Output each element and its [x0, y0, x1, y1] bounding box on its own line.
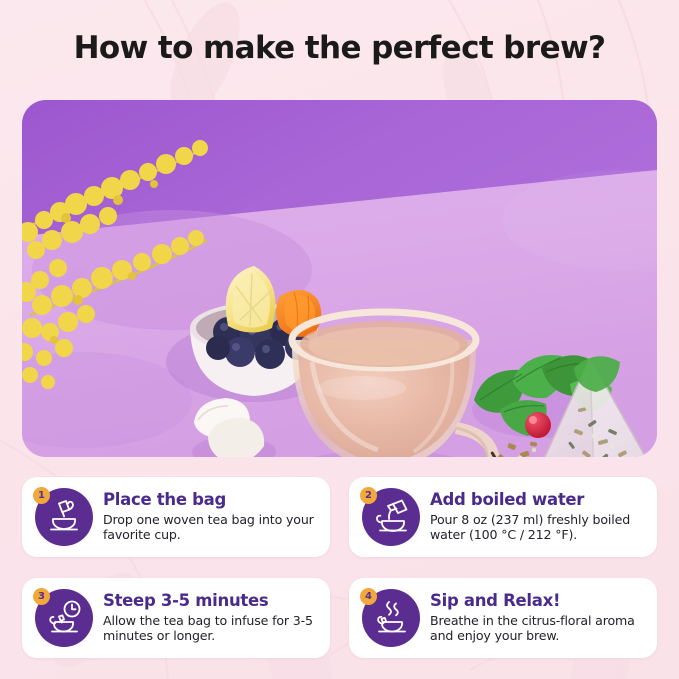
step-1-title: Place the bag: [103, 491, 318, 510]
step-1-icon-wrap: 1: [35, 488, 93, 546]
step-3-number: 3: [33, 588, 50, 605]
step-1-text: Place the bag Drop one woven tea bag int…: [103, 491, 318, 544]
step-4-text: Sip and Relax! Breathe in the citrus-flo…: [430, 592, 645, 645]
hero-photo: [22, 100, 657, 457]
infographic-page: How to make the perfect brew?: [0, 0, 679, 679]
step-3-text: Steep 3-5 minutes Allow the tea bag to i…: [103, 592, 318, 645]
step-4-number: 4: [360, 588, 377, 605]
step-4-body: Breathe in the citrus-floral aroma and e…: [430, 613, 645, 645]
step-1-number: 1: [33, 487, 50, 504]
step-2-text: Add boiled water Pour 8 oz (237 ml) fres…: [430, 491, 645, 544]
step-card-1[interactable]: 1 Place the bag Drop one woven tea bag i…: [22, 477, 330, 557]
step-2-icon-wrap: 2: [362, 488, 420, 546]
step-4-icon-wrap: 4: [362, 589, 420, 647]
step-2-body: Pour 8 oz (237 ml) freshly boiled water …: [430, 512, 645, 544]
page-title: How to make the perfect brew?: [0, 30, 679, 66]
steps-grid: 1 Place the bag Drop one woven tea bag i…: [22, 477, 657, 658]
step-3-title: Steep 3-5 minutes: [103, 592, 318, 611]
step-1-body: Drop one woven tea bag into your favorit…: [103, 512, 318, 544]
hero-illustration: [22, 100, 657, 457]
red-berry: [525, 412, 551, 438]
step-3-body: Allow the tea bag to infuse for 3-5 minu…: [103, 613, 318, 645]
step-4-title: Sip and Relax!: [430, 592, 645, 611]
step-card-4[interactable]: 4 Sip and Relax! Breathe in the citrus-f…: [349, 578, 657, 658]
step-3-icon-wrap: 3: [35, 589, 93, 647]
step-2-title: Add boiled water: [430, 491, 645, 510]
step-card-3[interactable]: 3 Steep 3-5 minutes Allow the tea bag t: [22, 578, 330, 658]
step-2-number: 2: [360, 487, 377, 504]
step-card-2[interactable]: 2 Add boiled water Pour 8 oz (237 ml) fr…: [349, 477, 657, 557]
